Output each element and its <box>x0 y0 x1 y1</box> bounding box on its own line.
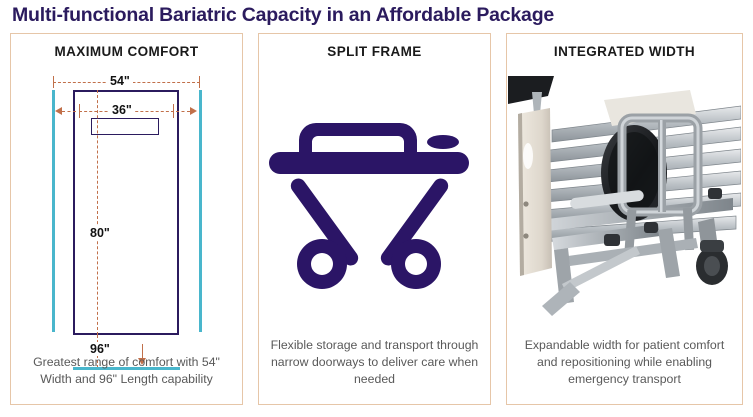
panel-split-frame: SPLIT FRAME <box>258 33 491 405</box>
dim-arrow-36-left <box>55 107 62 115</box>
panel-caption-maximum-comfort: Greatest range of comfort with 54" Width… <box>19 354 234 388</box>
panel-caption-split-frame: Flexible storage and transport through n… <box>267 337 482 388</box>
panel-title-split-frame: SPLIT FRAME <box>259 44 490 59</box>
dim-label-54: 54" <box>107 74 133 88</box>
stretcher-gurney-icon-wrap <box>259 92 490 302</box>
dim-arrow-36-right <box>190 107 197 115</box>
pillow-rectangle <box>91 118 159 135</box>
panel-maximum-comfort: MAXIMUM COMFORT 54" 36" <box>10 33 243 405</box>
panel-caption-integrated-width: Expandable width for patient comfort and… <box>515 337 734 388</box>
hospital-bed-frame-photo <box>508 70 741 332</box>
feature-panels: MAXIMUM COMFORT 54" 36" <box>0 33 753 409</box>
dim-line-80-vertical <box>97 90 98 335</box>
dim-line-36-left-seg <box>62 111 76 112</box>
dim-label-36: 36" <box>109 103 135 117</box>
panel-title-maximum-comfort: MAXIMUM COMFORT <box>11 44 242 59</box>
dim-line-36-right-seg <box>176 111 190 112</box>
side-rail-left <box>52 90 55 332</box>
panel-integrated-width: INTEGRATED WIDTH <box>506 33 743 405</box>
bed-footprint-diagram: 54" 36" 80" 96" <box>11 64 242 339</box>
stretcher-gurney-icon <box>259 92 490 302</box>
page-title: Multi-functional Bariatric Capacity in a… <box>12 4 742 27</box>
dim-label-80: 80" <box>87 226 113 240</box>
hospital-bed-frame-illustration <box>508 70 741 332</box>
dim-tick-36-right <box>173 104 174 118</box>
side-rail-right <box>199 90 202 332</box>
panel-title-integrated-width: INTEGRATED WIDTH <box>507 44 742 59</box>
